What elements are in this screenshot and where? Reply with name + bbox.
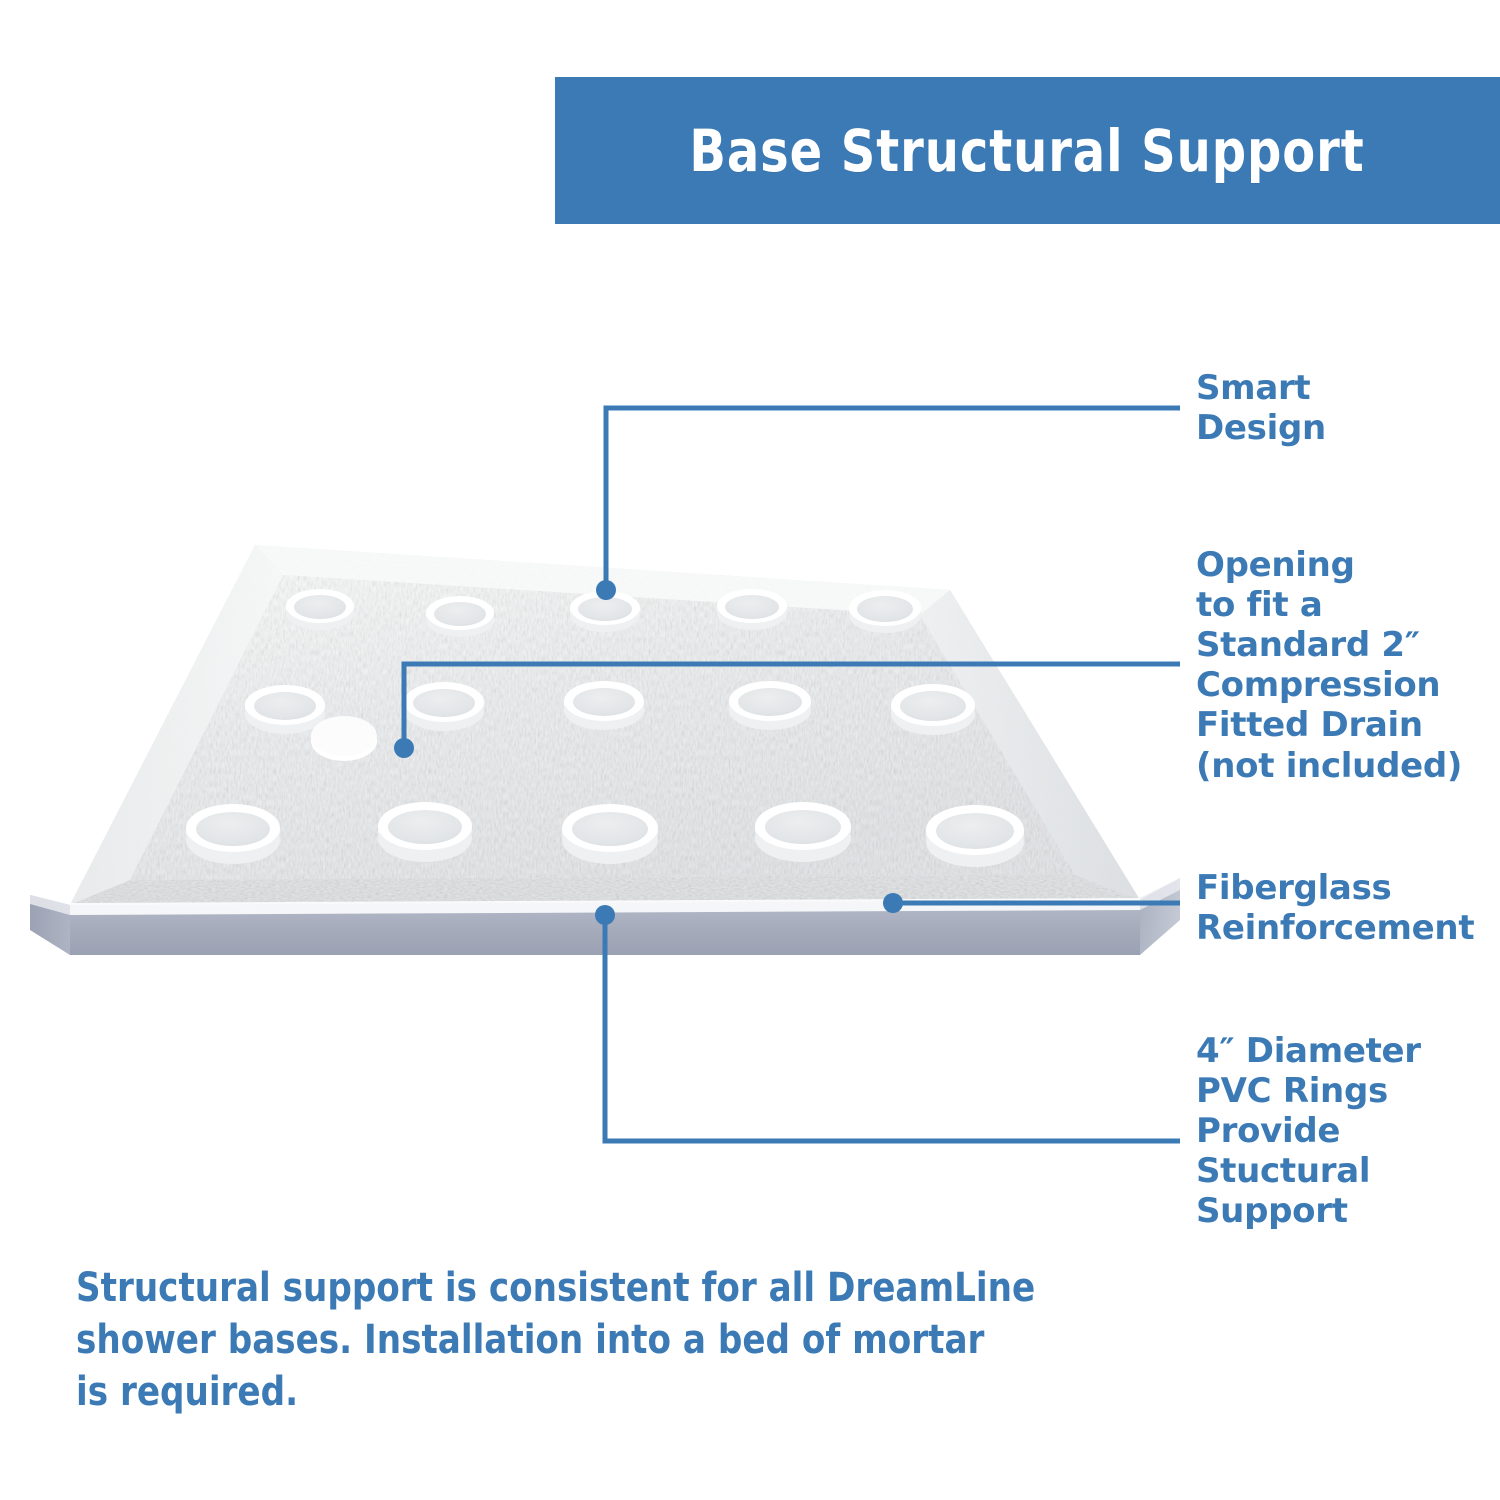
callout-line: Fiberglass	[1196, 868, 1496, 908]
pvc-ring	[570, 591, 640, 632]
pvc-ring	[286, 589, 354, 630]
callout-line: Reinforcement	[1196, 908, 1496, 948]
pvc-ring	[426, 596, 494, 637]
callout-line: PVC Rings	[1196, 1071, 1496, 1111]
callout-line: Design	[1196, 408, 1496, 448]
header-banner: Base Structural Support	[555, 77, 1500, 224]
pvc-ring	[926, 805, 1024, 867]
callout-line: 4″ Diameter	[1196, 1031, 1496, 1071]
pvc-ring	[849, 590, 921, 633]
callout-smart-design: Smart Design	[1196, 368, 1496, 448]
callout-fiberglass-reinforcement: Fiberglass Reinforcement	[1196, 868, 1496, 948]
product-illustration	[0, 500, 1200, 1000]
pvc-ring	[564, 681, 644, 730]
callout-line: Standard 2″	[1196, 625, 1496, 665]
pvc-ring	[404, 682, 484, 731]
pvc-ring	[717, 589, 787, 630]
pvc-ring	[755, 802, 851, 862]
callout-line: Provide	[1196, 1111, 1496, 1151]
callout-line: to fit a	[1196, 585, 1496, 625]
footnote-line: shower bases. Installation into a bed of…	[76, 1314, 931, 1366]
callout-line: Compression	[1196, 665, 1496, 705]
pvc-ring	[378, 802, 472, 862]
callout-drain-opening: Opening to fit a Standard 2″ Compression…	[1196, 545, 1496, 786]
callout-line: (not included)	[1196, 746, 1496, 786]
callout-line: Fitted Drain	[1196, 705, 1496, 745]
callout-pvc-rings: 4″ Diameter PVC Rings Provide Stuctural …	[1196, 1031, 1496, 1232]
footnote-line: Structural support is consistent for all…	[76, 1262, 931, 1314]
pvc-ring	[562, 804, 658, 864]
callout-line: Support	[1196, 1191, 1496, 1231]
callout-line: Smart	[1196, 368, 1496, 408]
callout-line: Opening	[1196, 545, 1496, 585]
pvc-ring	[891, 684, 975, 735]
footnote-text: Structural support is consistent for all…	[76, 1262, 931, 1418]
pvc-ring	[729, 681, 811, 730]
footnote-line: is required.	[76, 1366, 931, 1418]
callout-line: Stuctural	[1196, 1151, 1496, 1191]
infographic-canvas: Base Structural Support	[0, 0, 1500, 1500]
pvc-ring	[245, 685, 325, 734]
page-title: Base Structural Support	[690, 117, 1365, 185]
drain-opening-hole	[311, 716, 377, 761]
pvc-ring	[186, 804, 280, 864]
